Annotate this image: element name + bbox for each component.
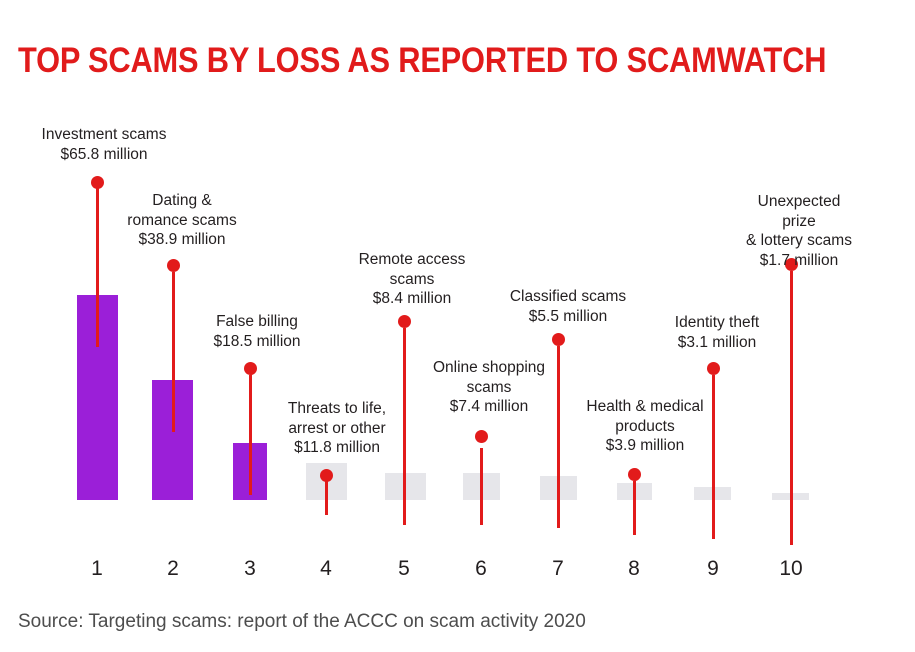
x-tick-label-7: 7 — [552, 556, 564, 582]
leader-dot-9 — [707, 362, 720, 375]
bar-annotation-7: Classified scams $5.5 million — [510, 287, 626, 326]
bar-annotation-5: Remote access scams $8.4 million — [359, 250, 466, 309]
x-tick-label-6: 6 — [475, 556, 487, 582]
leader-line-7 — [557, 346, 560, 528]
x-tick-label-5: 5 — [398, 556, 410, 582]
leader-line-10 — [790, 271, 793, 545]
bar-annotation-3: False billing $18.5 million — [213, 312, 300, 351]
leader-line-3 — [249, 375, 252, 495]
leader-line-6 — [480, 448, 483, 525]
bar-annotation-10: Unexpected prize & lottery scams $1.7 mi… — [741, 192, 857, 270]
x-tick-label-1: 1 — [91, 556, 103, 582]
x-tick-label-9: 9 — [707, 556, 719, 582]
x-tick-label-3: 3 — [244, 556, 256, 582]
leader-dot-5 — [398, 315, 411, 328]
leader-line-9 — [712, 375, 715, 539]
bar-annotation-8: Health & medical products $3.9 million — [586, 397, 703, 456]
bar-annotation-4: Threats to life, arrest or other $11.8 m… — [288, 399, 386, 458]
leader-dot-8 — [628, 468, 641, 481]
leader-line-2 — [172, 272, 175, 432]
bar-annotation-2: Dating & romance scams $38.9 million — [127, 191, 236, 250]
x-tick-label-2: 2 — [167, 556, 179, 582]
leader-line-1 — [96, 188, 99, 347]
leader-dot-2 — [167, 259, 180, 272]
bar-annotation-6: Online shopping scams $7.4 million — [433, 358, 545, 417]
leader-dot-6 — [475, 430, 488, 443]
x-tick-label-10: 10 — [779, 556, 802, 582]
x-tick-label-4: 4 — [320, 556, 332, 582]
x-tick-label-8: 8 — [628, 556, 640, 582]
bar-annotation-9: Identity theft $3.1 million — [675, 313, 759, 352]
leader-line-8 — [633, 481, 636, 535]
leader-dot-7 — [552, 333, 565, 346]
leader-dot-3 — [244, 362, 257, 375]
bar-annotation-1: Investment scams $65.8 million — [42, 125, 167, 164]
leader-line-4 — [325, 481, 328, 515]
bar-chart-plot-area: Investment scams $65.8 millionDating & r… — [0, 0, 915, 600]
leader-line-5 — [403, 328, 406, 525]
leader-dot-4 — [320, 469, 333, 482]
leader-dot-1 — [91, 176, 104, 189]
source-note: Source: Targeting scams: report of the A… — [18, 610, 586, 634]
